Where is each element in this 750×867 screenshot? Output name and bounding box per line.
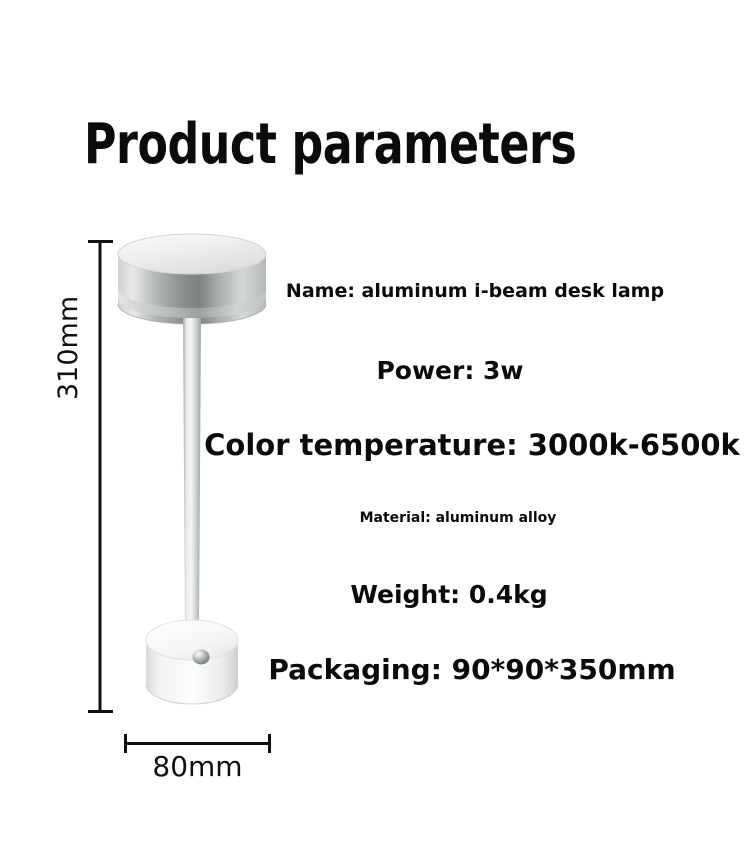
width-dimension-rule [124,742,271,745]
spec-power: Power: 3w [0,357,750,385]
desk-lamp-illustration [112,232,272,718]
page-title: Product parameters [84,117,576,173]
lamp-head [118,234,266,324]
width-dimension-label: 80mm [124,750,271,783]
spec-weight: Weight: 0.4kg [0,581,750,609]
spec-packaging: Packaging: 90*90*350mm [0,655,750,686]
height-dimension-cap-top [88,240,113,243]
product-parameters-page: Product parameters [0,0,750,867]
height-dimension-rule [99,240,102,713]
spec-name: Name: aluminum i-beam desk lamp [0,281,750,302]
height-dimension-cap-bottom [88,710,113,713]
spec-material: Material: aluminum alloy [0,511,750,526]
spec-color-temperature: Color temperature: 3000k-6500k [0,430,750,462]
